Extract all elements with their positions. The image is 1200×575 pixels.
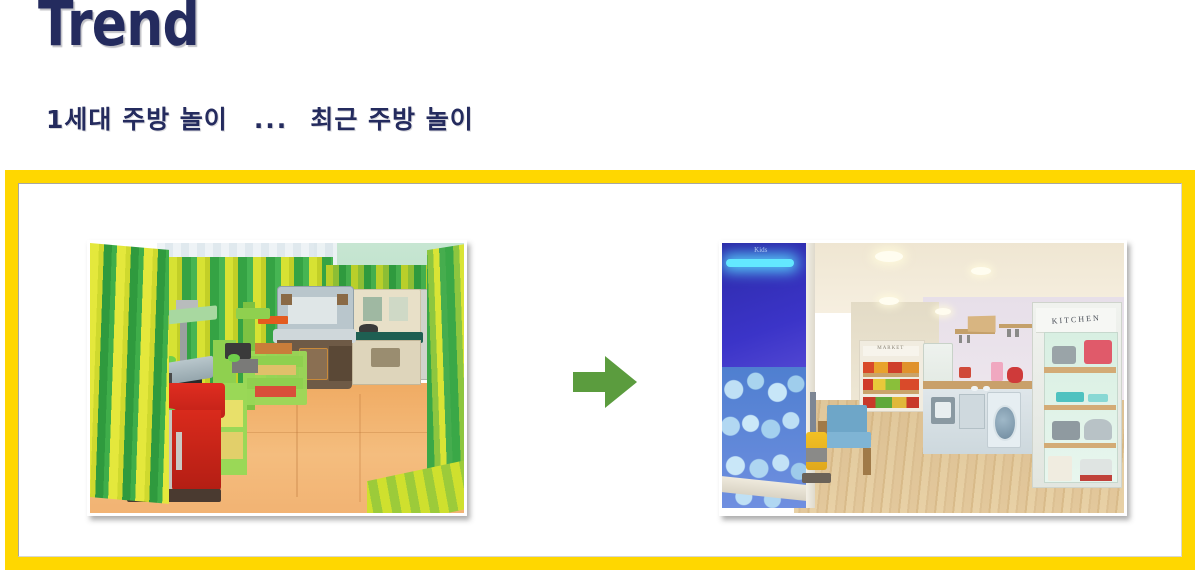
toy-kitchen-grey-accent xyxy=(337,294,348,305)
page-title: Trend xyxy=(38,0,542,58)
toy-market-top xyxy=(236,308,270,319)
display-shelf xyxy=(1044,405,1116,410)
display-kettle xyxy=(1084,419,1112,441)
toy-groceries xyxy=(255,343,292,354)
title-block: Trend xyxy=(38,0,638,60)
subtitle-row: 1세대 주방 놀이 ... 최근 주방 놀이 xyxy=(46,100,474,136)
ceiling-light xyxy=(875,251,903,262)
bench-leg xyxy=(863,448,871,475)
utensil-hook xyxy=(1015,329,1018,337)
subtitle-before-label: 1세대 주방 놀이 xyxy=(46,100,228,136)
after-photo: MARKET xyxy=(719,240,1127,516)
toy-vacuum-motor xyxy=(806,448,826,462)
play-cabinet xyxy=(959,394,985,428)
toy-kitchen-green-insert xyxy=(221,432,243,459)
display-shelf xyxy=(1044,367,1116,372)
toy-kettle-red xyxy=(1007,367,1023,383)
after-photo-canvas: MARKET xyxy=(722,243,1124,513)
subtitle-ellipsis: ... xyxy=(254,105,289,134)
display-cookware xyxy=(1052,421,1080,440)
market-produce-row xyxy=(863,362,919,373)
floor-seam xyxy=(296,405,298,497)
market-shelf-board xyxy=(863,373,919,377)
toy-canister-pink xyxy=(991,362,1003,381)
toy-green-knob xyxy=(228,354,239,362)
display-canister xyxy=(1048,456,1072,480)
comparison-frame: MARKET xyxy=(5,170,1195,570)
display-appliance-base xyxy=(1080,475,1112,480)
playroom-striped-wall-left xyxy=(90,243,169,504)
toy-kitchen-beige-window xyxy=(363,297,382,321)
utensil-hook xyxy=(1007,329,1010,337)
toy-cabinet-dark xyxy=(329,346,351,381)
arrow-right-icon xyxy=(571,352,639,412)
ball-pit-wall-text: Kids xyxy=(754,246,810,262)
floor-seam xyxy=(359,394,361,502)
toy-range-hood xyxy=(968,315,996,332)
display-cookware xyxy=(1084,340,1112,364)
before-photo-canvas xyxy=(90,243,464,513)
before-photo xyxy=(87,240,467,516)
blue-bench-seat xyxy=(823,432,871,448)
toy-kitchen-red-handle xyxy=(176,432,182,470)
utensil-hook xyxy=(967,335,970,343)
playroom-striped-wall-far-right xyxy=(427,243,464,477)
toy-kitchen-grey-accent xyxy=(281,294,292,305)
ceiling-light xyxy=(935,308,951,315)
toy-appliance-red xyxy=(959,367,971,378)
subtitle-after-label: 최근 주방 놀이 xyxy=(310,100,473,136)
toy-groceries xyxy=(255,386,296,397)
toy-kitchen-beige-window xyxy=(389,297,408,321)
play-oven-window xyxy=(935,402,951,418)
market-produce-row xyxy=(863,397,919,408)
toy-kitchen-grey-panel xyxy=(288,297,337,324)
market-produce-row xyxy=(863,379,919,390)
display-cookware xyxy=(1052,346,1076,365)
market-sign-label: MARKET xyxy=(863,346,919,351)
toy-groceries xyxy=(255,365,296,376)
utensil-hook xyxy=(959,335,962,343)
ceiling-light xyxy=(879,297,899,305)
comparison-frame-inner: MARKET xyxy=(18,183,1182,557)
display-cookware xyxy=(1088,394,1108,402)
toy-vacuum-base xyxy=(802,473,830,484)
market-shelf-board xyxy=(863,390,919,394)
toy-oven-beige xyxy=(371,348,401,367)
display-shelf xyxy=(1044,443,1116,448)
display-cookware xyxy=(1056,392,1084,403)
